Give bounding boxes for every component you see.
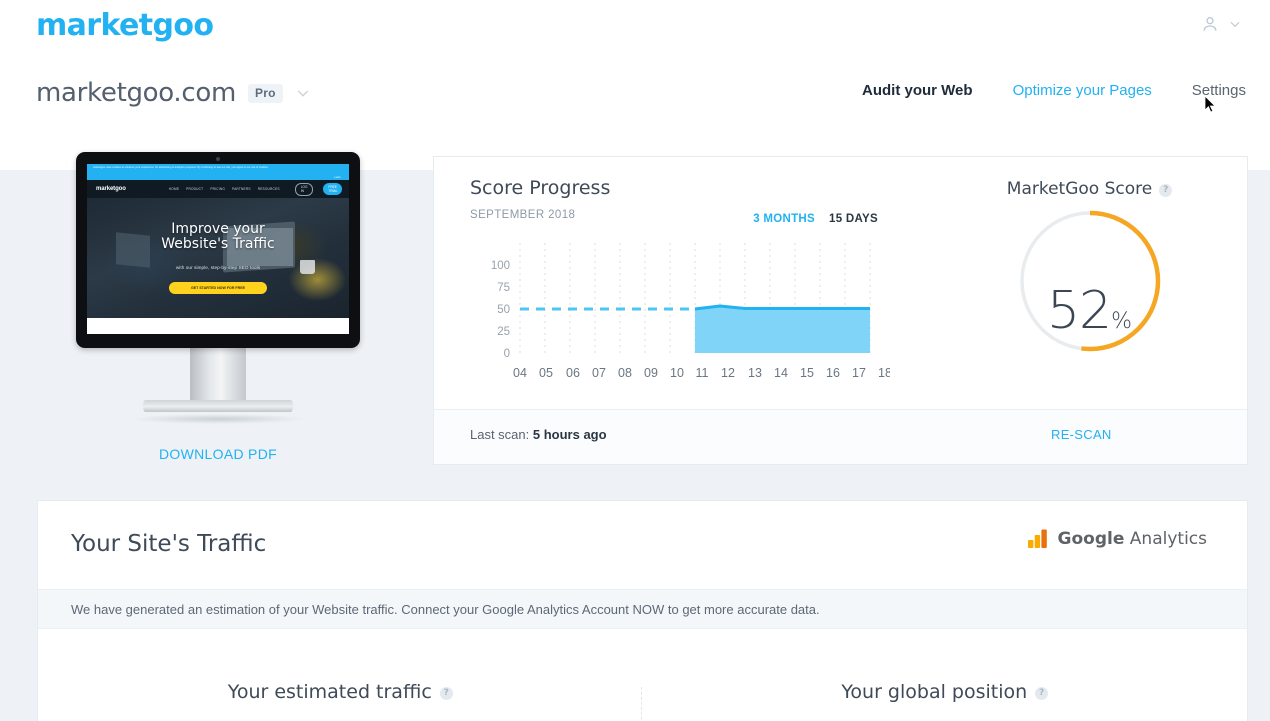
range-toggle: 3 MONTHS 15 DAYS: [753, 213, 878, 225]
traffic-notice: We have generated an estimation of your …: [38, 589, 1247, 629]
last-scan-value: 5 hours ago: [533, 427, 607, 442]
chart-x-tick: 07: [592, 366, 606, 380]
screenshot-menu-item: PRODUCT: [186, 187, 203, 191]
score-progress-chart: 100 75 50 25 0 04 05 06: [470, 235, 890, 395]
range-3-months[interactable]: 3 MONTHS: [753, 213, 815, 225]
score-value: 52%: [932, 281, 1247, 341]
screenshot-menu-item: RESOURCES: [258, 187, 280, 191]
chart-x-tick: 13: [748, 366, 762, 380]
screenshot-logo: marketgoo: [96, 186, 126, 192]
chart-y-tick: 0: [504, 348, 510, 360]
screenshot-menu-item: PARTNERS: [232, 187, 251, 191]
chart-area-fill: [695, 306, 870, 353]
google-analytics-text: Google Analytics: [1058, 529, 1207, 549]
screenshot-hero: Improve your Website's Traffic with our …: [87, 198, 349, 318]
chart-y-labels: 100 75 50 25 0: [491, 260, 510, 360]
screenshot-login-button: LOG IN: [295, 183, 314, 196]
global-position-column: Your global position ?: [643, 681, 1248, 703]
score-card-body: Score Progress SEPTEMBER 2018 3 MONTHS 1…: [434, 157, 1247, 410]
monitor-shadow: [130, 414, 306, 424]
google-analytics-logo: Google Analytics: [1027, 528, 1207, 550]
marketgoo-score-panel: MarketGoo Score ? 52%: [932, 157, 1247, 410]
score-card-footer: Last scan: 5 hours ago RE-SCAN: [434, 410, 1247, 464]
chevron-down-icon[interactable]: [295, 85, 311, 101]
app-page: marketgoo marketgoo.com Pro: [0, 0, 1270, 721]
download-pdf-button[interactable]: DOWNLOAD PDF: [76, 446, 360, 462]
site-screenshot: marketgoo uses cookies to enhance your e…: [87, 164, 349, 334]
score-card: Score Progress SEPTEMBER 2018 3 MONTHS 1…: [433, 156, 1248, 465]
chart-y-tick: 75: [497, 282, 510, 294]
screenshot-trial-button: FREE TRIAL: [323, 183, 342, 195]
user-icon: [1200, 14, 1220, 34]
monitor-neck: [190, 348, 246, 400]
page-header: marketgoo marketgoo.com Pro: [0, 0, 1270, 170]
site-traffic-header: Your Site's Traffic Google Analytics: [38, 501, 1247, 589]
chart-x-tick: 06: [566, 366, 580, 380]
chart-x-tick: 12: [721, 366, 735, 380]
ga-word-analytics: Analytics: [1130, 529, 1207, 549]
nav-audit-your-web[interactable]: Audit your Web: [862, 82, 973, 99]
rescan-button[interactable]: RE-SCAN: [1051, 427, 1112, 442]
screenshot-menu-item: PRICING: [210, 187, 225, 191]
screenshot-cookie-bar: marketgoo uses cookies to enhance your e…: [87, 164, 349, 180]
chart-x-tick: 05: [539, 366, 553, 380]
screenshot-menu-item: HOME: [169, 187, 179, 191]
screenshot-headline: Improve your Website's Traffic: [87, 222, 349, 252]
range-15-days[interactable]: 15 DAYS: [829, 213, 878, 225]
ga-word-google: Google: [1058, 529, 1125, 549]
chart-x-tick: 09: [644, 366, 658, 380]
traffic-columns: Your estimated traffic ? Your global pos…: [38, 629, 1247, 721]
screenshot-navbar: marketgoo HOME PRODUCT PRICING PARTNERS …: [87, 180, 349, 198]
score-percent-sign: %: [1111, 309, 1132, 334]
site-traffic-title: Your Site's Traffic: [71, 531, 266, 557]
chart-x-labels: 04 05 06 07 08 09 10 11 12 13 14 15 16 1…: [513, 366, 890, 380]
monitor-frame: marketgoo uses cookies to enhance your e…: [76, 152, 360, 348]
headline-line-1: Improve your: [87, 222, 349, 237]
site-selector[interactable]: marketgoo.com Pro: [36, 78, 311, 108]
global-position-title: Your global position ?: [841, 681, 1048, 703]
help-icon[interactable]: ?: [440, 687, 453, 700]
page-title: marketgoo.com: [36, 78, 236, 108]
screenshot-cookie-text: marketgoo uses cookies to enhance your e…: [93, 166, 343, 170]
google-analytics-icon: [1027, 528, 1049, 550]
chart-x-tick: 18: [878, 366, 890, 380]
account-menu[interactable]: [1200, 14, 1242, 34]
chart-x-tick: 10: [670, 366, 684, 380]
nav-settings[interactable]: Settings: [1192, 82, 1246, 99]
chevron-down-icon: [1228, 17, 1242, 31]
plan-badge: Pro: [248, 84, 283, 103]
chart-y-tick: 100: [491, 260, 510, 272]
brand-logo[interactable]: marketgoo: [36, 8, 213, 43]
main-navigation: Audit your Web Optimize your Pages Setti…: [862, 82, 1246, 99]
traffic-notice-text: We have generated an estimation of your …: [71, 602, 820, 617]
score-progress-title: Score Progress: [470, 177, 610, 199]
screenshot-subheadline: with our simple, step-by-step SEO tools: [87, 265, 349, 270]
monitor-base: [143, 400, 293, 412]
help-icon[interactable]: ?: [1159, 184, 1172, 197]
chart-y-tick: 50: [497, 304, 510, 316]
score-progress-month: SEPTEMBER 2018: [470, 209, 575, 221]
global-position-label: Your global position: [841, 681, 1027, 703]
estimated-traffic-title: Your estimated traffic ?: [228, 681, 453, 703]
site-traffic-card: Your Site's Traffic Google Analytics We …: [37, 500, 1248, 721]
chart-x-tick: 17: [852, 366, 866, 380]
chart-y-tick: 25: [497, 326, 510, 338]
site-preview: marketgoo uses cookies to enhance your e…: [76, 152, 360, 462]
last-scan-label: Last scan:: [470, 427, 529, 442]
nav-optimize-your-pages[interactable]: Optimize your Pages: [1013, 82, 1152, 99]
screenshot-menu: HOME PRODUCT PRICING PARTNERS RESOURCES: [169, 187, 280, 191]
screenshot-footer-strip: [87, 318, 349, 334]
score-number: 52: [1047, 281, 1111, 341]
estimated-traffic-column: Your estimated traffic ?: [38, 681, 643, 703]
chart-x-tick: 11: [696, 366, 709, 380]
headline-line-2: Website's Traffic: [87, 237, 349, 252]
marketgoo-score-label: MarketGoo Score: [1007, 179, 1152, 199]
chart-x-tick: 08: [618, 366, 632, 380]
chart-x-tick: 16: [826, 366, 840, 380]
chart-x-tick: 15: [800, 366, 814, 380]
marketgoo-score-title: MarketGoo Score ?: [932, 179, 1247, 199]
estimated-traffic-label: Your estimated traffic: [228, 681, 432, 703]
screenshot-cookie-link: Learn: [334, 176, 341, 179]
chart-x-tick: 14: [774, 366, 788, 380]
screenshot-cta-button: GET STARTED NOW FOR FREE: [169, 282, 267, 294]
last-scan: Last scan: 5 hours ago: [470, 427, 607, 442]
chart-x-tick: 04: [513, 366, 527, 380]
chart-svg: 100 75 50 25 0 04 05 06: [470, 235, 890, 387]
help-icon[interactable]: ?: [1035, 687, 1048, 700]
